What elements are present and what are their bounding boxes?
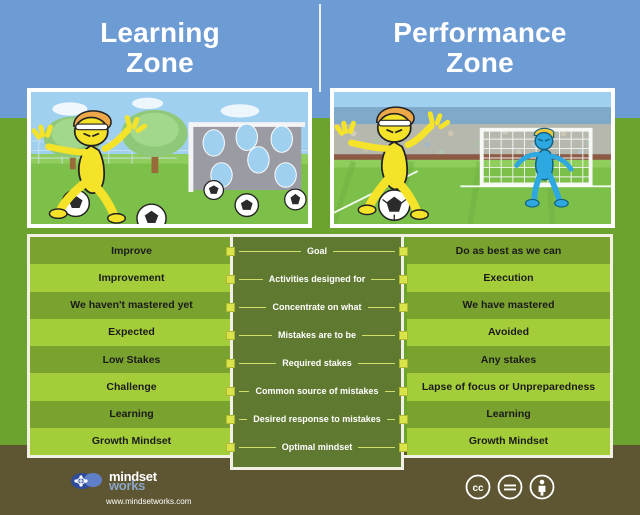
table-row: We have mastered (407, 292, 610, 319)
attribute-label: Mistakes are to be (272, 330, 362, 340)
connector-node-right (399, 415, 408, 424)
learning-title-line2: Zone (10, 48, 310, 78)
learning-zone-illustration (27, 88, 312, 228)
attribute-label: Goal (301, 246, 333, 256)
learning-title-line1: Learning (10, 18, 310, 48)
brain-logo-icon (70, 470, 104, 492)
performance-title-line2: Zone (330, 48, 630, 78)
table-row: Any stakes (407, 346, 610, 373)
connector-node-right (399, 331, 408, 340)
connector-node-right (399, 443, 408, 452)
logo-name-works: works (109, 480, 157, 491)
attribute-column: Goal Activities designed for Concentrate… (230, 234, 404, 470)
table-row: Do as best as we can (407, 237, 610, 264)
connector-node-left (226, 331, 235, 340)
target-wall (188, 122, 305, 192)
attribute-label: Concentrate on what (266, 302, 367, 312)
table-row: Avoided (407, 319, 610, 346)
attribute-row: Goal (233, 237, 401, 265)
attribute-row: Required stakes (233, 349, 401, 377)
table-row: Improve (30, 237, 233, 264)
connector-node-left (226, 275, 235, 284)
table-row: Growth Mindset (30, 428, 233, 455)
attribute-label: Required stakes (276, 358, 358, 368)
connector-node-right (399, 359, 408, 368)
table-row: Learning (407, 401, 610, 428)
learning-zone-column: Improve Improvement We haven't mastered … (30, 237, 233, 455)
attribute-label: Optimal mindset (276, 442, 359, 452)
page-title-learning-zone: Learning Zone (10, 18, 310, 78)
performance-zone-column: Do as best as we can Execution We have m… (407, 237, 610, 455)
table-row: Expected (30, 319, 233, 346)
connector-node-left (226, 443, 235, 452)
nd-equals-icon (497, 474, 523, 500)
attribute-row: Optimal mindset (233, 433, 401, 461)
connector-node-left (226, 303, 235, 312)
connector-node-right (399, 247, 408, 256)
website-url[interactable]: www.mindsetworks.com (106, 497, 250, 506)
brand-logo[interactable]: mindset works www.mindsetworks.com (70, 470, 250, 510)
license-badges: cc (465, 474, 555, 500)
attribute-label: Desired response to mistakes (247, 414, 387, 424)
soccer-ball (204, 181, 223, 200)
connector-node-right (399, 387, 408, 396)
table-row: Learning (30, 401, 233, 428)
table-row: Low Stakes (30, 346, 233, 373)
table-row: Execution (407, 264, 610, 291)
attribute-row: Concentrate on what (233, 293, 401, 321)
attribute-row: Common source of mistakes (233, 377, 401, 405)
connector-node-left (226, 359, 235, 368)
infographic-poster: Learning Zone Performance Zone (0, 0, 640, 515)
table-row: We haven't mastered yet (30, 292, 233, 319)
connector-node-right (399, 275, 408, 284)
page-title-performance-zone: Performance Zone (330, 18, 630, 78)
connector-node-left (226, 387, 235, 396)
performance-zone-illustration (330, 88, 615, 228)
svg-text:cc: cc (472, 483, 484, 494)
cc-icon: cc (465, 474, 491, 500)
soccer-ball (285, 189, 306, 210)
attribute-label: Activities designed for (263, 274, 372, 284)
table-row: Lapse of focus or Unpreparedness (407, 373, 610, 400)
connector-node-left (226, 415, 235, 424)
soccer-ball (235, 194, 258, 217)
table-row: Challenge (30, 373, 233, 400)
attribute-row: Activities designed for (233, 265, 401, 293)
header-divider (319, 4, 321, 92)
attribute-row: Desired response to mistakes (233, 405, 401, 433)
table-row: Growth Mindset (407, 428, 610, 455)
performance-title-line1: Performance (330, 18, 630, 48)
table-row: Improvement (30, 264, 233, 291)
connector-node-right (399, 303, 408, 312)
attribute-label: Common source of mistakes (249, 386, 384, 396)
connector-node-left (226, 247, 235, 256)
by-person-icon (529, 474, 555, 500)
attribute-row: Mistakes are to be (233, 321, 401, 349)
